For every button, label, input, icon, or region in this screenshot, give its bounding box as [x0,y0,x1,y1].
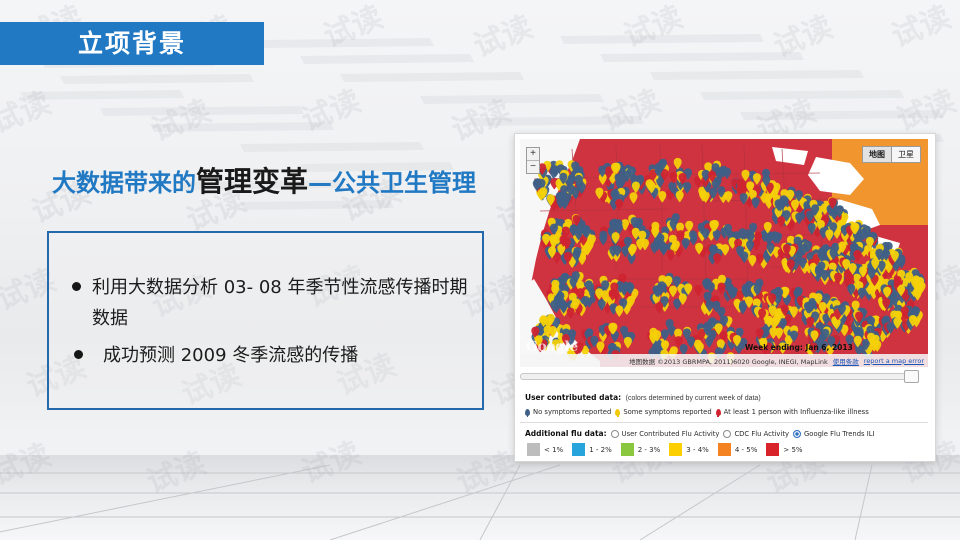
legend-label: At least 1 person with Influenza-like il… [724,408,869,416]
map-pin-icon [716,409,721,416]
zoom-out-icon[interactable]: − [527,161,539,173]
map-type-toggle[interactable]: 地图 卫星 [862,146,921,163]
bullet-dot-icon [72,282,81,291]
user-legend-title: User contributed data: [525,393,621,402]
legend-label: No symptoms reported [533,408,611,416]
scale-item: 1 - 2% [572,443,612,456]
map-type-button-satellite[interactable]: 卫星 [892,147,920,162]
bullet-text: 利用大数据分析 03- 08 年季节性流感传播时期数据 [92,272,482,334]
color-swatch [527,443,540,456]
scale-label: 3 - 4% [686,446,709,454]
radio-option-cdc[interactable]: CDC Flu Activity [723,430,789,438]
map-pin-icon [525,409,530,416]
scale-label: 4 - 5% [735,446,758,454]
legend-item: At least 1 person with Influenza-like il… [716,408,869,416]
radio-icon[interactable] [723,430,731,438]
legend-item: Some symptoms reported [615,408,711,416]
week-ending-label: Week ending: Jan 6, 2013 [745,343,853,352]
color-swatch [669,443,682,456]
user-contributed-legend: User contributed data: (colors determine… [520,384,928,419]
flu-data-options: Additional flu data: User Contributed Fl… [525,429,923,438]
map-type-button-map[interactable]: 地图 [863,147,891,162]
list-item: 利用大数据分析 03- 08 年季节性流感传播时期数据 [72,272,482,334]
flu-trends-screenshot: + − 地图 卫星 Week ending: Jan 6, 2013 Googl… [514,133,936,462]
map-legend-panel: User contributed data: (colors determine… [520,384,928,459]
map-pin-icon [615,409,620,416]
color-swatch [766,443,779,456]
map-attribution-text: 地图数据 ©2013 GBRMPA, 2011)6020 Google, INE… [629,356,828,366]
user-legend-subtitle: (colors determined by current week of da… [626,395,761,402]
zoom-in-icon[interactable]: + [527,148,539,160]
heading-part-3: —公共卫生管理 [308,169,476,197]
scale-item: 2 - 3% [621,443,661,456]
legend-item: No symptoms reported [525,408,611,416]
scale-item: 4 - 5% [718,443,758,456]
heading-part-1: 大数据带来的 [52,169,196,197]
scale-item: 3 - 4% [669,443,709,456]
scale-label: 2 - 3% [638,446,661,454]
bullet-dot-icon [74,350,83,359]
additional-flu-title: Additional flu data: [525,429,607,438]
page-title: 立项背景 [78,27,278,61]
radio-label: CDC Flu Activity [734,430,789,438]
scale-item: < 1% [527,443,563,456]
perspective-floor [0,455,960,540]
map-zoom-control[interactable]: + − [526,147,540,174]
radio-icon[interactable] [611,430,619,438]
list-item: 成功预测 2009 冬季流感的传播 [72,340,482,371]
color-swatch [621,443,634,456]
scale-label: > 5% [783,446,802,454]
terms-of-use-link[interactable]: 使用条款 [833,356,859,366]
radio-label: User Contributed Flu Activity [622,430,720,438]
report-map-error-link[interactable]: report a map error [864,357,924,365]
radio-option-user-contributed[interactable]: User Contributed Flu Activity [611,430,720,438]
flu-intensity-scale: < 1% 1 - 2% 2 - 3% 3 - 4% [525,443,923,456]
map-attribution-bar: 地图数据 ©2013 GBRMPA, 2011)6020 Google, INE… [520,354,928,367]
radio-label: Google Flu Trends ILI [804,430,875,438]
legend-label: Some symptoms reported [623,408,711,416]
bullet-list: 利用大数据分析 03- 08 年季节性流感传播时期数据 成功预测 2009 冬季… [72,272,482,377]
scale-label: 1 - 2% [589,446,612,454]
google-logo: Google [526,339,578,355]
user-legend-items: No symptoms reported Some symptoms repor… [525,408,923,416]
radio-option-google-trends[interactable]: Google Flu Trends ILI [793,430,875,438]
scale-item: > 5% [766,443,802,456]
timeline-slider[interactable] [520,370,928,380]
bullet-text: 成功预测 2009 冬季流感的传播 [103,340,358,371]
slider-thumb[interactable] [904,370,919,383]
heading-part-2: 管理变革 [196,165,308,198]
slider-track[interactable] [520,373,912,380]
slide-heading: 大数据带来的管理变革—公共卫生管理 [52,168,476,196]
radio-icon-selected[interactable] [793,430,801,438]
additional-flu-data-legend: Additional flu data: User Contributed Fl… [520,423,928,459]
map-canvas[interactable]: + − 地图 卫星 Week ending: Jan 6, 2013 Googl… [520,139,928,367]
map-pin-cluster [520,139,928,367]
color-swatch [718,443,731,456]
scale-label: < 1% [544,446,563,454]
slide-canvas: 试读 试读 试读 试读 试读 试读 试读 试读 试读 试读 试读 试读 试读 试… [0,0,960,540]
color-swatch [572,443,585,456]
